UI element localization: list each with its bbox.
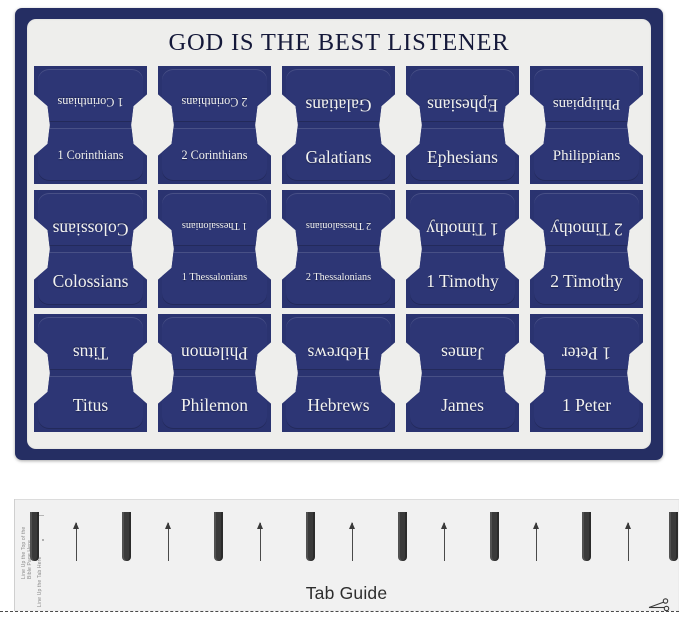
tab-card-inner-panel: GOD IS THE BEST LISTENER 1 Corinthians 1… — [27, 19, 651, 449]
tab-item[interactable]: 1 Peter 1 Peter — [530, 314, 643, 432]
guide-arrow-icon — [352, 523, 353, 561]
tab-item[interactable]: 2 Corinthians 2 Corinthians — [158, 66, 271, 184]
guide-bar — [398, 512, 407, 561]
scissors-icon — [648, 597, 670, 613]
tab-label-mirrored: 2 Corinthians — [158, 96, 271, 108]
guide-arrow-icon — [76, 523, 77, 561]
tab-item[interactable]: Philemon Philemon — [158, 314, 271, 432]
tab-label-upright: 1 Peter — [530, 397, 643, 415]
guide-bar — [582, 512, 591, 561]
tab-label-mirrored: Colossians — [34, 220, 147, 238]
tab-label-upright: Titus — [34, 397, 147, 415]
tab-label-upright: Galatians — [282, 149, 395, 167]
tab-row: Titus Titus Philemon Philemon Hebrews He… — [34, 314, 644, 432]
tab-row: 1 Corinthians 1 Corinthians 2 Corinthian… — [34, 66, 644, 184]
tab-item[interactable]: Ephesians Ephesians — [406, 66, 519, 184]
tab-item[interactable]: 1 Thessalonians 1 Thessalonians — [158, 190, 271, 308]
tab-label-upright: 2 Timothy — [530, 273, 643, 291]
tab-label-mirrored: Philippians — [530, 96, 643, 111]
tab-item[interactable]: James James — [406, 314, 519, 432]
guide-arrow-icon — [168, 523, 169, 561]
tab-label-upright: 2 Corinthians — [158, 149, 271, 161]
tab-row: Colossians Colossians 1 Thessalonians 1 … — [34, 190, 644, 308]
tab-label-mirrored: James — [406, 344, 519, 362]
tab-item[interactable]: 2 Timothy 2 Timothy — [530, 190, 643, 308]
tab-label-mirrored: Titus — [34, 344, 147, 362]
tab-label-mirrored: Philemon — [158, 344, 271, 362]
tab-label-mirrored: Hebrews — [282, 344, 395, 362]
tab-item[interactable]: Philippians Philippians — [530, 66, 643, 184]
tab-guide-strip: Line Up the Top of the Bible Page Here L… — [14, 499, 679, 611]
tab-item[interactable]: Galatians Galatians — [282, 66, 395, 184]
guide-bar — [490, 512, 499, 561]
tab-item[interactable]: 2 Thessalonians 2 Thessalonians — [282, 190, 395, 308]
tab-label-mirrored: Galatians — [282, 96, 395, 114]
guide-bar — [214, 512, 223, 561]
tab-item[interactable]: 1 Timothy 1 Timothy — [406, 190, 519, 308]
guide-bar — [669, 512, 678, 561]
guide-bar — [30, 512, 39, 561]
tab-item[interactable]: Titus Titus — [34, 314, 147, 432]
guide-arrow-icon — [628, 523, 629, 561]
cut-line-dashed — [0, 611, 679, 612]
tab-label-upright: 2 Thessalonians — [282, 273, 395, 283]
guide-arrow-icon — [260, 523, 261, 561]
guide-arrow-icon — [536, 523, 537, 561]
tab-label-upright: Hebrews — [282, 397, 395, 415]
tab-label-mirrored: 1 Corinthians — [34, 96, 147, 108]
tab-label-upright: Philippians — [530, 149, 643, 164]
tab-label-mirrored: 1 Timothy — [406, 220, 519, 238]
tab-label-mirrored: 2 Thessalonians — [282, 220, 395, 230]
tab-label-mirrored: Ephesians — [406, 96, 519, 114]
tab-item[interactable]: Hebrews Hebrews — [282, 314, 395, 432]
tab-label-upright: Colossians — [34, 273, 147, 291]
guide-top-rule — [14, 499, 679, 500]
tab-grid: 1 Corinthians 1 Corinthians 2 Corinthian… — [34, 66, 644, 438]
tab-item[interactable]: Colossians Colossians — [34, 190, 147, 308]
tab-label-upright: 1 Timothy — [406, 273, 519, 291]
guide-alignment-dot — [42, 539, 44, 541]
tab-label-upright: Ephesians — [406, 149, 519, 167]
tab-label-upright: 1 Thessalonians — [158, 273, 271, 283]
tab-label-upright: James — [406, 397, 519, 415]
tab-label-upright: 1 Corinthians — [34, 149, 147, 161]
guide-bar — [122, 512, 131, 561]
tab-label-mirrored: 1 Peter — [530, 344, 643, 362]
tab-label-mirrored: 2 Timothy — [530, 220, 643, 238]
page-title: GOD IS THE BEST LISTENER — [27, 29, 651, 57]
tab-label-mirrored: 1 Thessalonians — [158, 220, 271, 230]
guide-arrow-icon — [444, 523, 445, 561]
tab-item[interactable]: 1 Corinthians 1 Corinthians — [34, 66, 147, 184]
bible-tab-card: GOD IS THE BEST LISTENER 1 Corinthians 1… — [15, 8, 663, 460]
tab-label-upright: Philemon — [158, 397, 271, 415]
guide-title: Tab Guide — [14, 583, 679, 604]
guide-bar — [306, 512, 315, 561]
